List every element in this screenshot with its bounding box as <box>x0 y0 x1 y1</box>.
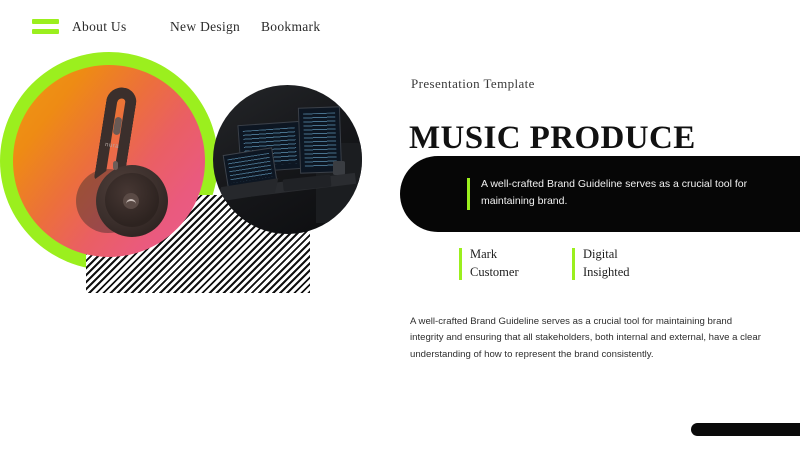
hamburger-bar-2 <box>32 29 59 34</box>
hamburger-bar-1 <box>32 19 59 24</box>
eyebrow-text: Presentation Template <box>411 76 535 92</box>
navbar: About Us New Design Bookmark <box>0 0 800 52</box>
headphone-port-shape <box>113 161 118 170</box>
decorative-pill-bar <box>691 423 800 436</box>
quote-text: A well-crafted Brand Guideline serves as… <box>481 176 751 210</box>
meta-accent-bar <box>572 248 575 280</box>
quote-accent-bar <box>467 178 470 210</box>
meta-accent-bar <box>459 248 462 280</box>
page-title: MUSIC PRODUCE <box>409 120 696 157</box>
headphones-gradient-backdrop: nura <box>13 65 205 257</box>
quote-card: A well-crafted Brand Guideline serves as… <box>400 156 800 232</box>
hamburger-icon[interactable] <box>32 19 59 34</box>
meta-title: Mark <box>470 246 519 264</box>
pen-cup-shape <box>333 161 345 175</box>
nav-link-about-us[interactable]: About Us <box>72 19 127 35</box>
meta-block-digital: Digital Insighted <box>572 246 630 282</box>
meta-subtitle: Insighted <box>583 264 630 282</box>
slide-canvas: About Us New Design Bookmark <box>0 0 800 450</box>
image-collage: nura <box>0 52 400 450</box>
meta-subtitle: Customer <box>470 264 519 282</box>
meta-block-customer: Mark Customer <box>459 246 519 282</box>
nav-link-bookmark[interactable]: Bookmark <box>261 19 320 35</box>
studio-photo <box>213 85 362 234</box>
meta-title: Digital <box>583 246 630 264</box>
nav-link-new-design[interactable]: New Design <box>170 19 240 35</box>
body-paragraph: A well-crafted Brand Guideline serves as… <box>410 314 762 365</box>
headphone-logo-icon <box>123 193 139 209</box>
